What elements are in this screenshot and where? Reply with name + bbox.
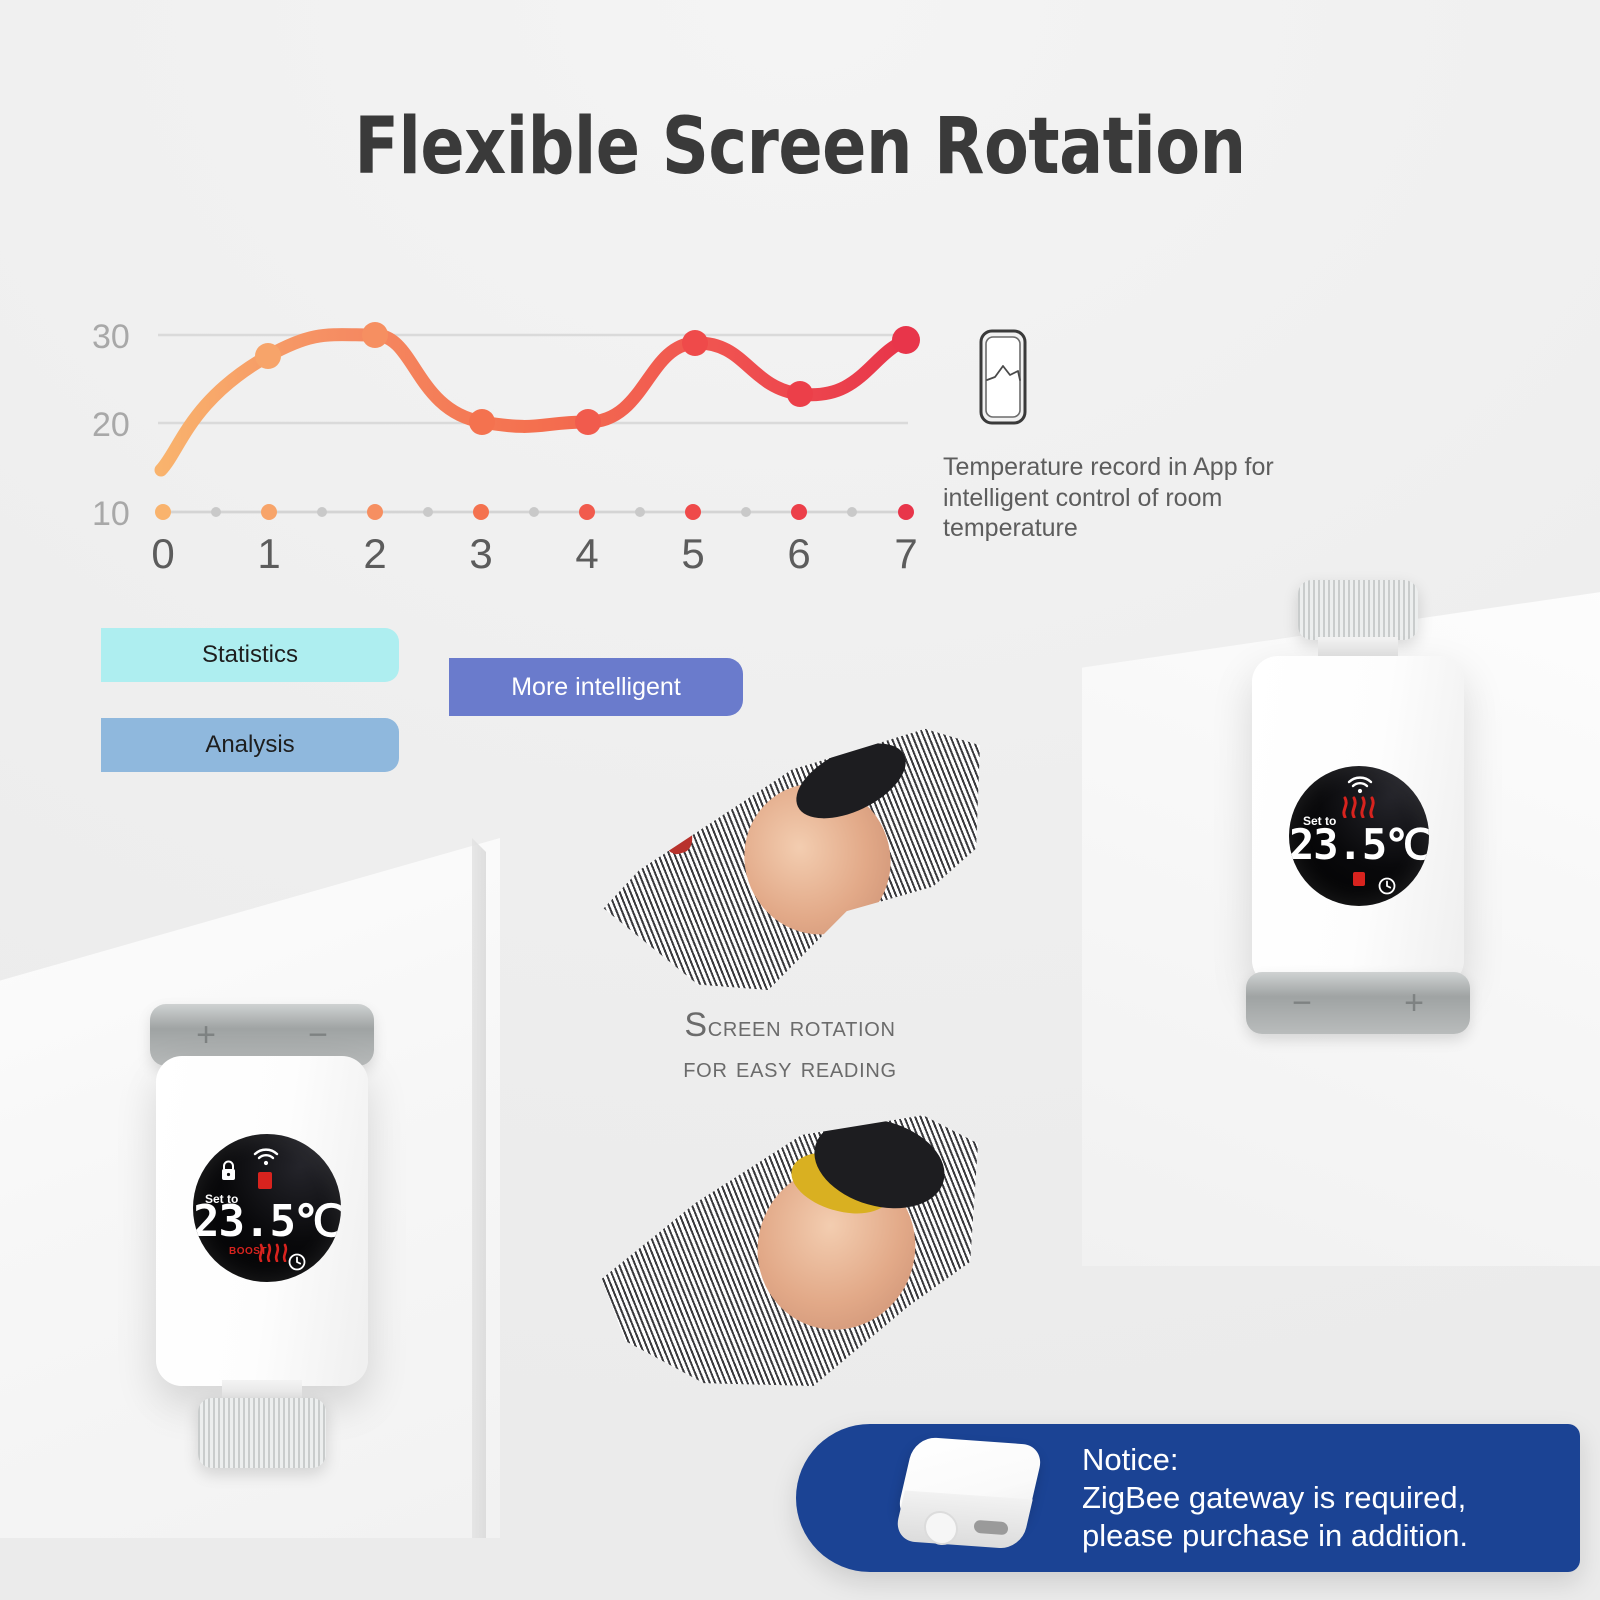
poster-canvas: Flexible Screen Rotation 30 — [0, 0, 1600, 1600]
screen-rotation-line-2: for easy reading — [590, 1049, 990, 1087]
y-tick-label: 10 — [92, 495, 130, 533]
temperature-value: 23.5℃ — [1289, 820, 1429, 869]
minus-button[interactable]: − — [1292, 984, 1312, 1023]
app-caption: Temperature record in App for intelligen… — [943, 452, 1303, 544]
pill-analysis[interactable]: Analysis — [101, 718, 399, 772]
heat-waves-icon — [1340, 792, 1380, 823]
gateway-usb-port — [974, 1520, 1008, 1535]
screen-rotation-line-1-cap: S — [684, 1006, 707, 1044]
pill-statistics[interactable]: Statistics — [101, 628, 399, 682]
wifi-icon — [253, 1148, 279, 1171]
minus-button[interactable]: − — [308, 1016, 328, 1055]
plus-button[interactable]: + — [1404, 984, 1424, 1023]
y-tick-label: 30 — [92, 318, 130, 356]
notice-line-1: ZigBee gateway is required, — [1082, 1479, 1468, 1517]
phone-chart-icon — [965, 328, 1041, 431]
plus-button[interactable]: + — [196, 1016, 216, 1055]
x-tick-label: 0 — [151, 530, 174, 577]
notice-banner: Notice: ZigBee gateway is required, plea… — [796, 1424, 1580, 1572]
window-open-icon — [1353, 872, 1365, 886]
background-panel-left-edge — [472, 838, 486, 1538]
lock-icon — [219, 1160, 238, 1187]
pill-analysis-label: Analysis — [205, 731, 294, 759]
zigbee-gateway-icon — [888, 1437, 1054, 1559]
clock-icon — [287, 1252, 307, 1277]
chart-svg: 30 20 10 — [70, 300, 950, 580]
device-screen-right: Set to 23.5℃ — [1289, 766, 1429, 906]
chart-y-axis: 30 20 10 — [92, 318, 130, 533]
y-tick-label: 20 — [92, 406, 130, 444]
valve-nut-icon — [1298, 580, 1418, 640]
pill-more-intelligent[interactable]: More intelligent — [449, 658, 743, 716]
screen-rotation-note: Screen rotation for easy reading — [590, 1003, 990, 1086]
clock-icon — [1377, 876, 1397, 901]
x-tick-label: 4 — [575, 530, 598, 577]
pill-more-intelligent-label: More intelligent — [511, 673, 681, 702]
x-tick-label: 6 — [787, 530, 810, 577]
page-title: Flexible Screen Rotation — [56, 108, 1544, 186]
chart-x-axis: 0 1 2 3 4 5 6 7 — [151, 530, 917, 577]
screen-rotation-line-1: Screen rotation — [590, 1003, 990, 1049]
x-tick-label: 1 — [257, 530, 280, 577]
chart-axis-dots — [155, 504, 914, 520]
rotating-face-photo-top — [588, 718, 980, 990]
pill-statistics-label: Statistics — [202, 641, 298, 669]
notice-line-2: please purchase in addition. — [1082, 1517, 1468, 1555]
device-screen-left: Set to 23.5℃ BOOST — [193, 1134, 341, 1282]
valve-nut-icon — [198, 1398, 326, 1468]
thermostat-device-right[interactable]: Set to 23.5℃ − + — [1232, 580, 1482, 1050]
gateway-front — [893, 1490, 1032, 1549]
notice-heading: Notice: — [1082, 1441, 1468, 1479]
heat-waves-icon — [257, 1240, 289, 1267]
x-tick-label: 5 — [681, 530, 704, 577]
x-tick-label: 7 — [894, 530, 917, 577]
device-button-band-right[interactable]: − + — [1246, 972, 1470, 1034]
x-tick-label: 2 — [363, 530, 386, 577]
face-tie — [652, 801, 697, 857]
temperature-chart: 30 20 10 — [70, 300, 950, 580]
thermostat-device-left[interactable]: + − Set to 23.5℃ BOOST — [136, 998, 386, 1468]
x-tick-label: 3 — [469, 530, 492, 577]
window-open-icon — [258, 1172, 272, 1189]
rotating-face-photo-bottom — [586, 1104, 978, 1386]
notice-text: Notice: ZigBee gateway is required, plea… — [1082, 1441, 1468, 1554]
